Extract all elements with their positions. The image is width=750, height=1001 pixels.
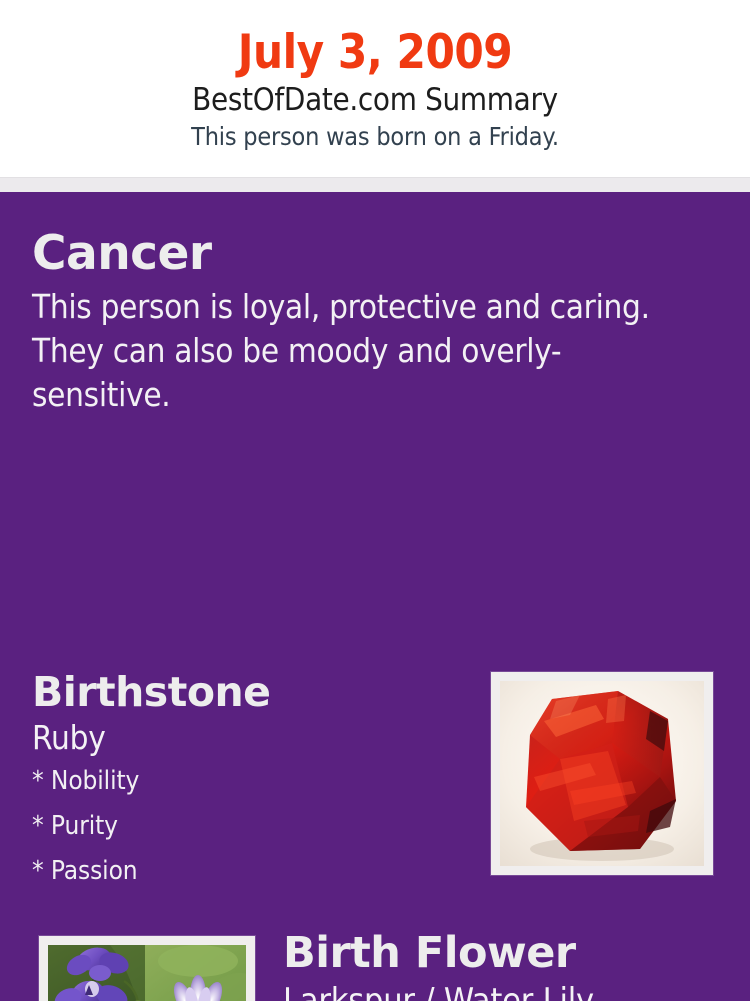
larkspur-water-lily-icon — [48, 945, 246, 1001]
zodiac-sign-title: Cancer — [32, 192, 718, 281]
birth-flower-section: Birth Flower Larkspur / Water Lily * Pos… — [283, 927, 723, 1001]
page-title-date: July 3, 2009 — [0, 26, 750, 80]
birthstone-title: Birthstone — [32, 667, 462, 717]
site-summary-label: BestOfDate.com Summary — [0, 80, 750, 120]
header-divider — [0, 177, 750, 192]
birth-flower-name: Larkspur / Water Lily — [283, 979, 723, 1001]
ruby-crystal-icon — [500, 681, 704, 866]
birthstone-trait: * Nobility — [32, 759, 462, 804]
summary-panel: Cancer This person is loyal, protective … — [0, 192, 750, 1001]
birth-flower-image-frame — [39, 936, 255, 1001]
page-header: July 3, 2009 BestOfDate.com Summary This… — [0, 0, 750, 177]
birthstone-trait: * Passion — [32, 849, 462, 894]
birth-flower-title: Birth Flower — [283, 927, 723, 979]
born-day-label: This person was born on a Friday. — [0, 120, 750, 154]
birthstone-trait: * Purity — [32, 804, 462, 849]
birthstone-image-frame — [491, 672, 713, 875]
zodiac-description: This person is loyal, protective and car… — [32, 285, 652, 417]
birthstone-name: Ruby — [32, 717, 462, 759]
birthstone-section: Birthstone Ruby * Nobility * Purity * Pa… — [32, 667, 462, 894]
